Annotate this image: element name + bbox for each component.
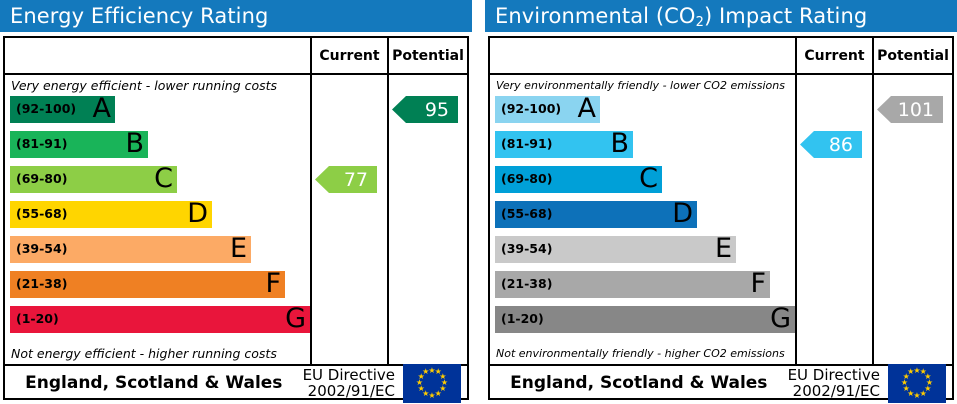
directive-line-1: EU Directive (788, 367, 880, 383)
band-range: (1-20) (501, 313, 544, 326)
band-range: (21-38) (501, 278, 552, 291)
band-letter: C (639, 165, 658, 192)
environmental-impact-title: Environmental (CO2) Impact Rating (485, 0, 957, 32)
header-current: Current (310, 38, 387, 73)
band-range: (69-80) (16, 173, 67, 186)
epc-charts-container: Energy Efficiency Rating Current Potenti… (0, 0, 957, 404)
band-letter: F (265, 270, 281, 297)
band-f: (21-38) F (10, 271, 285, 298)
band-c: (69-80) C (495, 166, 662, 193)
band-range: (55-68) (501, 208, 552, 221)
band-c: (69-80) C (10, 166, 177, 193)
band-letter: D (187, 200, 208, 227)
potential-rating-arrow: 101 (877, 96, 943, 123)
band-range: (55-68) (16, 208, 67, 221)
footer-directive: EU Directive 2002/91/EC (303, 367, 403, 399)
rating-bands-list: (92-100) A (81-91) B (69-80) C (55-68) D… (5, 96, 310, 343)
energy-efficiency-title: Energy Efficiency Rating (0, 0, 472, 32)
band-f: (21-38) F (495, 271, 770, 298)
band-g: (1-20) G (495, 306, 795, 333)
table-header-row: Current Potential (490, 38, 952, 75)
title-subscript: 2 (696, 15, 704, 30)
title-text: Environmental (CO (495, 4, 696, 28)
energy-efficiency-table: Current Potential Very energy efficient … (3, 36, 469, 400)
header-potential: Potential (872, 38, 952, 73)
band-e: (39-54) E (495, 236, 736, 263)
potential-rating-arrow: 95 (392, 96, 458, 123)
directive-line-2: 2002/91/EC (788, 383, 880, 399)
header-potential: Potential (387, 38, 467, 73)
header-current: Current (795, 38, 872, 73)
band-range: (1-20) (16, 313, 59, 326)
band-b: (81-91) B (10, 131, 148, 158)
title-text-suffix: ) Impact Rating (704, 4, 867, 28)
table-header-row: Current Potential (5, 38, 467, 75)
footer-region: England, Scotland & Wales (5, 373, 303, 393)
band-d: (55-68) D (10, 201, 212, 228)
footer-row: England, Scotland & Wales EU Directive 2… (5, 366, 467, 400)
band-letter: E (715, 235, 732, 262)
potential-rating-value: 95 (425, 99, 449, 121)
directive-line-1: EU Directive (303, 367, 395, 383)
band-letter: A (578, 95, 596, 122)
caption-bottom: Not energy efficient - higher running co… (5, 343, 310, 364)
directive-line-2: 2002/91/EC (303, 383, 395, 399)
environmental-impact-table: Current Potential Very environmentally f… (488, 36, 954, 400)
band-range: (81-91) (16, 138, 67, 151)
band-letter: D (672, 200, 693, 227)
current-rating-arrow: 86 (800, 131, 862, 158)
column-rule-potential (387, 75, 389, 364)
title-text: Energy Efficiency Rating (10, 4, 268, 28)
band-letter: F (750, 270, 766, 297)
column-rule-potential (872, 75, 874, 364)
band-range: (81-91) (501, 138, 552, 151)
current-rating-value: 86 (829, 134, 853, 156)
band-letter: G (770, 305, 791, 332)
caption-top: Very environmentally friendly - lower CO… (490, 75, 795, 96)
eu-star-icon: ★ (907, 368, 915, 376)
footer-region: England, Scotland & Wales (490, 373, 788, 393)
eu-flag-icon: ★★★★★★★★★★★★ (888, 364, 946, 403)
column-rule-current (310, 75, 312, 364)
rating-bands-list: (92-100) A (81-91) B (69-80) C (55-68) D… (490, 96, 795, 343)
column-rule-current (795, 75, 797, 364)
band-range: (92-100) (501, 103, 561, 116)
band-letter: B (610, 130, 629, 157)
band-a: (92-100) A (495, 96, 600, 123)
current-rating-arrow: 77 (315, 166, 377, 193)
band-range: (69-80) (501, 173, 552, 186)
caption-bottom: Not environmentally friendly - higher CO… (490, 343, 795, 364)
current-rating-value: 77 (344, 169, 368, 191)
band-letter: B (125, 130, 144, 157)
band-d: (55-68) D (495, 201, 697, 228)
header-blank-cell (5, 38, 310, 73)
energy-efficiency-chart: Energy Efficiency Rating Current Potenti… (0, 0, 472, 404)
band-letter: A (93, 95, 111, 122)
band-range: (39-54) (16, 243, 67, 256)
band-letter: C (154, 165, 173, 192)
eu-star-icon: ★ (422, 368, 430, 376)
band-a: (92-100) A (10, 96, 115, 123)
potential-rating-value: 101 (898, 99, 934, 121)
band-range: (92-100) (16, 103, 76, 116)
footer-directive: EU Directive 2002/91/EC (788, 367, 888, 399)
footer-row: England, Scotland & Wales EU Directive 2… (490, 366, 952, 400)
header-blank-cell (490, 38, 795, 73)
caption-top: Very energy efficient - lower running co… (5, 75, 310, 96)
band-e: (39-54) E (10, 236, 251, 263)
eu-flag-icon: ★★★★★★★★★★★★ (403, 364, 461, 403)
band-g: (1-20) G (10, 306, 310, 333)
band-range: (39-54) (501, 243, 552, 256)
band-b: (81-91) B (495, 131, 633, 158)
band-range: (21-38) (16, 278, 67, 291)
band-letter: G (285, 305, 306, 332)
environmental-impact-chart: Environmental (CO2) Impact Rating Curren… (485, 0, 957, 404)
band-letter: E (230, 235, 247, 262)
